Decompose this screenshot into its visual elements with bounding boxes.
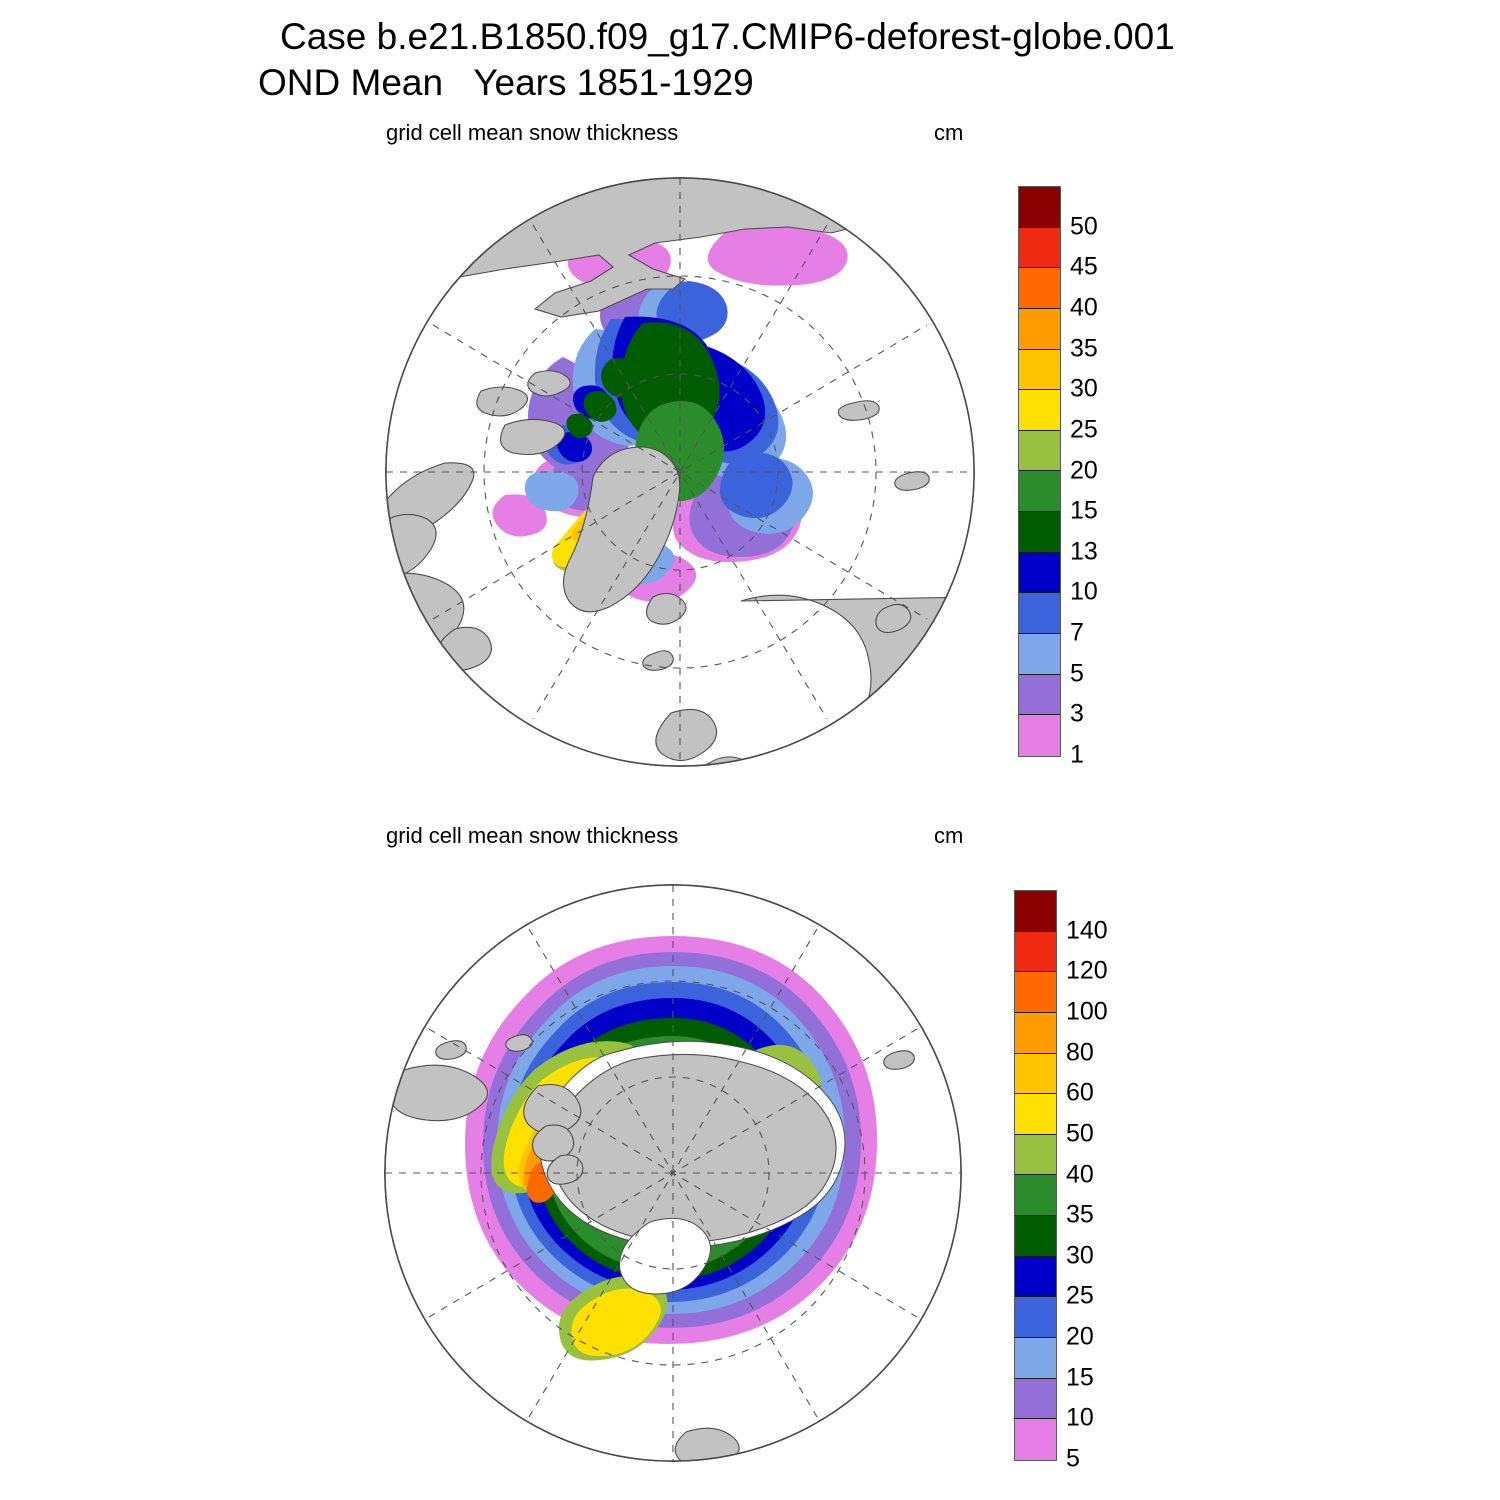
antarctic-field-label: grid cell mean snow thickness	[386, 823, 678, 849]
colorbar-tick-label: 25	[1066, 1282, 1094, 1311]
colorbar-tick-label: 15	[1070, 497, 1098, 526]
colorbar-swatch	[1019, 350, 1060, 391]
figure-title-line-2: OND Mean Years 1851-1929	[0, 60, 1500, 106]
antarctic-unit-label: cm	[934, 823, 963, 849]
colorbar-swatch	[1019, 390, 1060, 431]
colorbar-tick-label: 5	[1070, 659, 1084, 688]
antarctic-colorbar-ticks: 140120100806050403530252015105	[1066, 890, 1156, 1459]
colorbar-swatch	[1019, 187, 1060, 228]
colorbar-tick-label: 10	[1066, 1404, 1094, 1433]
colorbar-tick-label: 60	[1066, 1079, 1094, 1108]
antarctic-polar-map[interactable]	[384, 884, 962, 1462]
colorbar-swatch	[1019, 431, 1060, 472]
arctic-colorbar[interactable]	[1018, 186, 1061, 757]
colorbar-swatch	[1015, 1094, 1056, 1135]
colorbar-swatch	[1015, 972, 1056, 1013]
colorbar-tick-label: 10	[1070, 578, 1098, 607]
colorbar-swatch	[1019, 553, 1060, 594]
colorbar-tick-label: 30	[1066, 1241, 1094, 1270]
colorbar-tick-label: 35	[1070, 334, 1098, 363]
colorbar-tick-label: 1	[1070, 741, 1084, 770]
colorbar-tick-label: 25	[1070, 415, 1098, 444]
figure-title-line-1: Case b.e21.B1850.f09_g17.CMIP6-deforest-…	[0, 14, 1500, 60]
colorbar-tick-label: 50	[1066, 1119, 1094, 1148]
colorbar-tick-label: 5	[1066, 1445, 1080, 1474]
colorbar-swatch	[1015, 1379, 1056, 1420]
colorbar-swatch	[1015, 1013, 1056, 1054]
colorbar-swatch	[1015, 1419, 1056, 1460]
colorbar-tick-label: 50	[1070, 212, 1098, 241]
colorbar-swatch	[1019, 634, 1060, 675]
colorbar-tick-label: 120	[1066, 957, 1108, 986]
colorbar-swatch	[1015, 891, 1056, 932]
colorbar-swatch	[1019, 309, 1060, 350]
colorbar-tick-label: 140	[1066, 916, 1108, 945]
colorbar-swatch	[1019, 593, 1060, 634]
colorbar-swatch	[1015, 1054, 1056, 1095]
colorbar-tick-label: 30	[1070, 375, 1098, 404]
colorbar-swatch	[1015, 1257, 1056, 1298]
antarctic-colorbar[interactable]	[1014, 890, 1057, 1461]
colorbar-tick-label: 45	[1070, 253, 1098, 282]
colorbar-tick-label: 20	[1070, 456, 1098, 485]
figure-title-block: Case b.e21.B1850.f09_g17.CMIP6-deforest-…	[0, 14, 1500, 106]
colorbar-tick-label: 15	[1066, 1363, 1094, 1392]
colorbar-swatch	[1015, 1297, 1056, 1338]
colorbar-tick-label: 7	[1070, 619, 1084, 648]
arctic-field-label: grid cell mean snow thickness	[386, 120, 678, 146]
colorbar-tick-label: 40	[1066, 1160, 1094, 1189]
colorbar-swatch	[1015, 932, 1056, 973]
colorbar-swatch	[1019, 675, 1060, 716]
colorbar-swatch	[1019, 268, 1060, 309]
colorbar-tick-label: 40	[1070, 293, 1098, 322]
colorbar-tick-label: 35	[1066, 1201, 1094, 1230]
colorbar-tick-label: 80	[1066, 1038, 1094, 1067]
arctic-polar-map[interactable]	[385, 177, 975, 767]
colorbar-swatch	[1019, 512, 1060, 553]
colorbar-swatch	[1015, 1135, 1056, 1176]
colorbar-tick-label: 3	[1070, 700, 1084, 729]
colorbar-tick-label: 20	[1066, 1323, 1094, 1352]
colorbar-swatch	[1019, 471, 1060, 512]
colorbar-tick-label: 13	[1070, 537, 1098, 566]
colorbar-swatch	[1015, 1175, 1056, 1216]
colorbar-swatch	[1019, 228, 1060, 269]
colorbar-tick-label: 100	[1066, 997, 1108, 1026]
arctic-colorbar-ticks: 504540353025201513107531	[1070, 186, 1150, 755]
colorbar-swatch	[1015, 1216, 1056, 1257]
arctic-unit-label: cm	[934, 120, 963, 146]
colorbar-swatch	[1015, 1338, 1056, 1379]
colorbar-swatch	[1019, 715, 1060, 756]
